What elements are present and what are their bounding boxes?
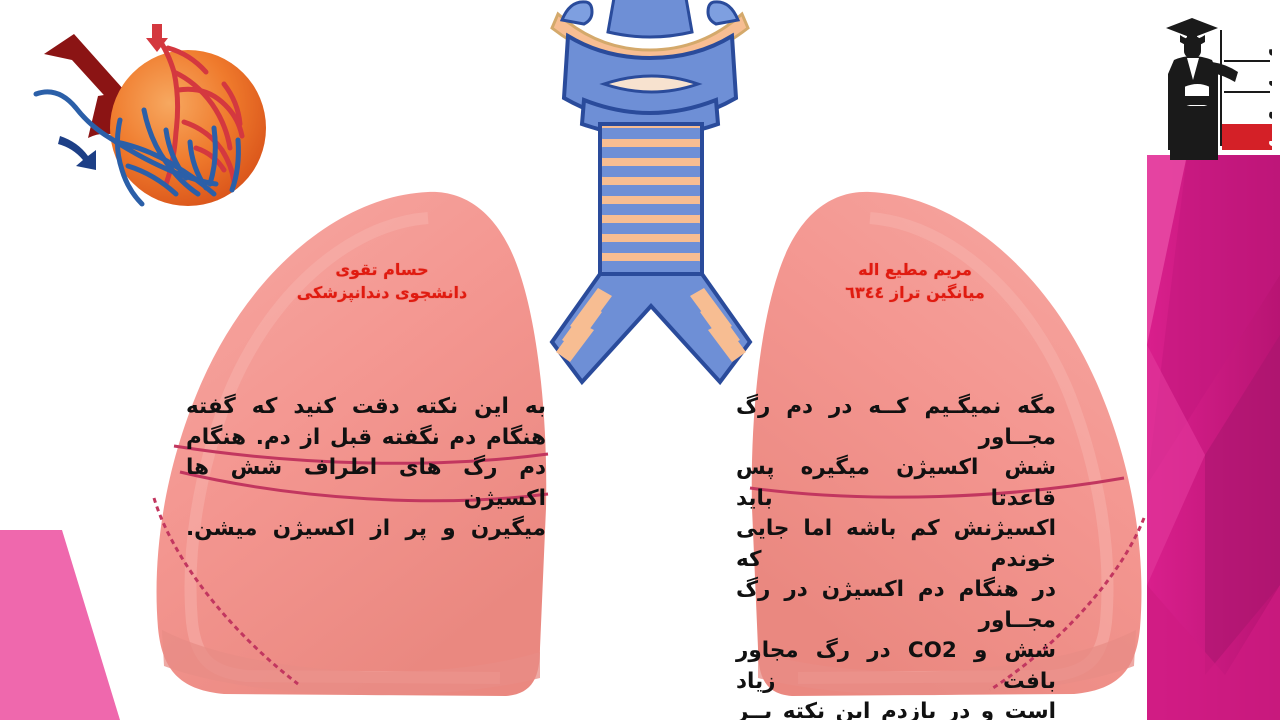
logo-text-block: کانون فرهنگی آموزش قلم چی: [1220, 30, 1272, 150]
annotation-right-note: مگه نمیگـیم کــه در دم رگ مجــاور شش اکس…: [736, 392, 1056, 720]
logo-brand-text: قلم چی: [1268, 129, 1272, 149]
logo-line-1: کانون: [1268, 38, 1272, 58]
logo-line-2: فرهنگی: [1268, 68, 1272, 89]
credit-right-name: مریم مطیع اله: [790, 258, 1040, 281]
annotation-right-line: شش اکسیژن میگیره پس قاعدتا باید: [736, 453, 1056, 514]
annotation-right-line: اکسیژنش کم باشه اما جایی خوندم که: [736, 514, 1056, 575]
kanoon-ghalamchi-logo: کانون فرهنگی آموزش قلم چی: [1154, 8, 1272, 168]
credit-left-name: حسام تقوی: [262, 258, 502, 281]
logo-line-3: آموزش: [1268, 98, 1272, 120]
annotation-left-line: میگیرن و پر از اکسیژن میشن.: [186, 514, 546, 545]
slide-canvas: کانون فرهنگی آموزش قلم چی: [0, 0, 1280, 720]
vein-arrow-icon: [58, 136, 96, 170]
decor-left-band: [0, 530, 120, 720]
credit-right: مریم مطیع اله میانگین تراز ٦٣٤٤: [790, 258, 1040, 304]
annotation-left-note: به این نکته دقت کنید که گفته هنگام دم نگ…: [186, 392, 546, 545]
annotation-right-line: شش و CO2 در رگ مجاور بافت زیاد: [736, 636, 1056, 697]
annotation-left-line: دم رگ های اطراف شش ها اکسیژن: [186, 453, 546, 514]
annotation-left-line: به این نکته دقت کنید که گفته: [186, 392, 546, 423]
annotation-left-line: هنگام دم نگفته قبل از دم. هنگام: [186, 423, 546, 454]
credit-right-score: میانگین تراز ٦٣٤٤: [790, 281, 1040, 304]
credit-left: حسام تقوی دانشجوی دندانپزشکی: [262, 258, 502, 304]
annotation-right-line: در هنگام دم اکسیژن در رگ مجــاور: [736, 575, 1056, 636]
credit-left-role: دانشجوی دندانپزشکی: [262, 281, 502, 304]
annotation-right-line: است و در بازدم این نکته بــر عکــس: [736, 697, 1056, 720]
annotation-right-line: مگه نمیگـیم کــه در دم رگ مجــاور: [736, 392, 1056, 453]
logo-brand-chip: [1222, 124, 1272, 150]
